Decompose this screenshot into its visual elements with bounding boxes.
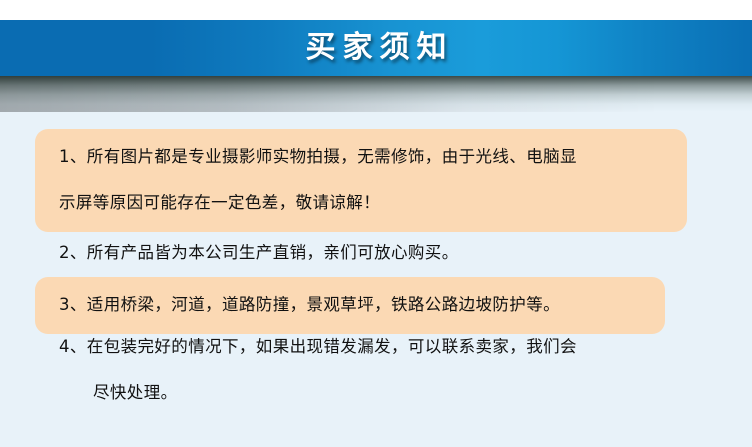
buyer-notice-page: 买家须知 1、所有图片都是专业摄影师实物拍摄，无需修饰，由于光线、电脑显 示屏等… [0,0,752,447]
notice-item-4-line-2: 尽快处理。 [59,370,669,416]
page-title: 买家须知 [299,33,454,63]
notice-item-3-line-1: 3、适用桥梁，河道，道路防撞，景观草坪，铁路公路边坡防护等。 [59,282,647,328]
banner-content: 买家须知 [0,20,752,76]
notice-item-1: 1、所有图片都是专业摄影师实物拍摄，无需修饰，由于光线、电脑显 示屏等原因可能存… [35,129,687,232]
notice-list: 1、所有图片都是专业摄影师实物拍摄，无需修饰，由于光线、电脑显 示屏等原因可能存… [0,112,752,447]
top-white-strip [0,0,752,20]
page-header-banner: 买家须知 [0,20,752,76]
banner-drop-shadow [0,76,752,112]
notice-item-1-line-2: 示屏等原因可能存在一定色差，敬请谅解！ [59,180,669,226]
notice-item-1-line-1: 1、所有图片都是专业摄影师实物拍摄，无需修饰，由于光线、电脑显 [59,134,669,180]
notice-item-4: 4、在包装完好的情况下，如果出现错发漏发，可以联系卖家，我们会 尽快处理。 [35,324,687,416]
notice-item-2: 2、所有产品皆为本公司生产直销，亲们可放心购买。 [35,230,687,276]
notice-item-4-line-1: 4、在包装完好的情况下，如果出现错发漏发，可以联系卖家，我们会 [59,324,669,370]
notice-item-2-line-1: 2、所有产品皆为本公司生产直销，亲们可放心购买。 [59,230,669,276]
